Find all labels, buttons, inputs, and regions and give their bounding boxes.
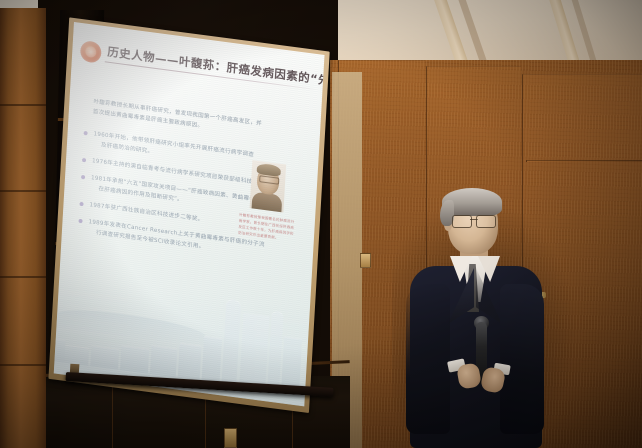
portrait-photo [250, 160, 287, 212]
presentation-room-photo: 历史人物——叶馥荪：肝癌发病因素的“先导” 叶馥荪教授长期从事肝癌研究，曾发现我… [0, 0, 642, 448]
wall-power-outlet[interactable] [224, 428, 237, 448]
wood-panel [526, 160, 642, 162]
presenter-glasses-icon [452, 215, 496, 226]
projection-screen: 历史人物——叶馥荪：肝癌发病因素的“先导” 叶馥荪教授长期从事肝癌研究，曾发现我… [54, 22, 325, 406]
screen-surface: 历史人物——叶馥荪：肝癌发病因素的“先导” 叶馥荪教授长期从事肝癌研究，曾发现我… [54, 22, 325, 406]
presenter-arm-left [406, 284, 450, 434]
wall-light-switch[interactable] [360, 253, 371, 268]
slide-logo-emblem-icon [80, 40, 102, 64]
presenter-arm-right [500, 284, 544, 434]
presenter [404, 188, 564, 448]
wood-pillar-left [0, 8, 46, 448]
